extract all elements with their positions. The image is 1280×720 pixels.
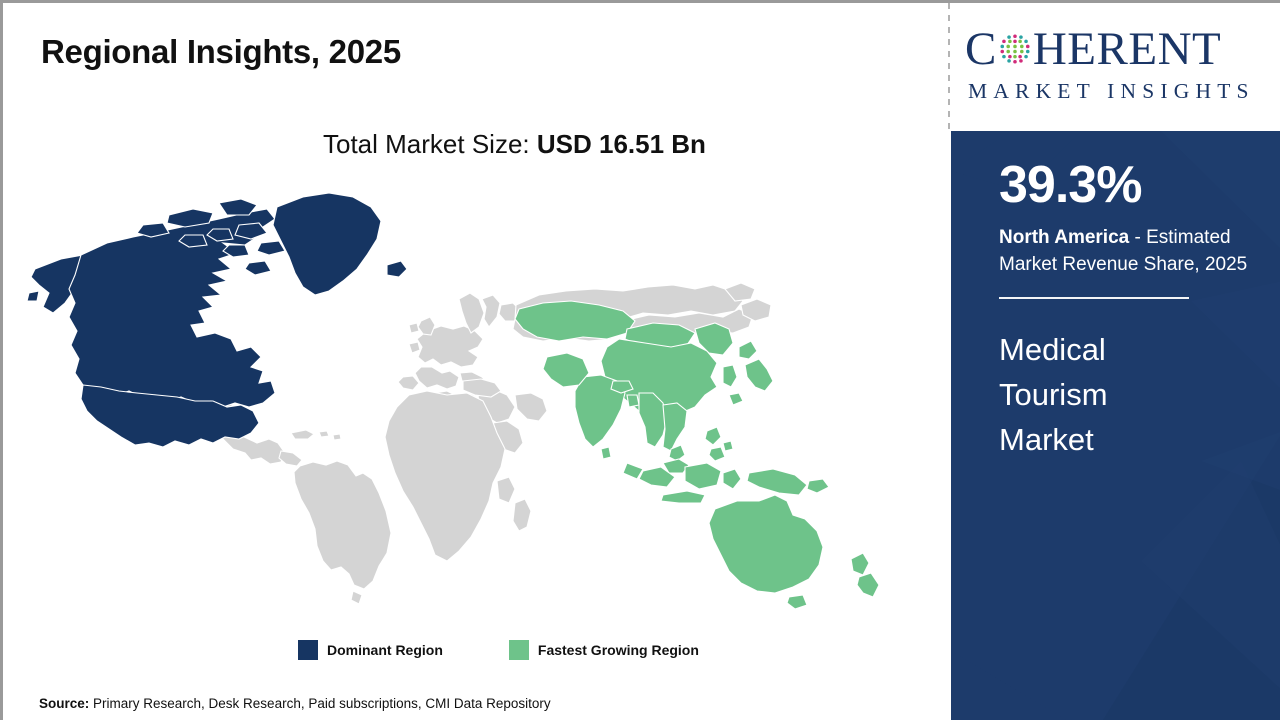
market-size-value: USD 16.51 Bn <box>537 129 706 159</box>
navy-square-icon <box>298 640 318 660</box>
map-legend: Dominant Region Fastest Growing Region <box>298 640 699 660</box>
page-title: Regional Insights, 2025 <box>41 33 401 71</box>
map-dominant-region-north-america <box>27 193 407 447</box>
legend-label-fastest-growing: Fastest Growing Region <box>538 642 699 658</box>
stat-region-name: North America <box>999 227 1129 248</box>
legend-item-dominant: Dominant Region <box>298 640 443 660</box>
world-map <box>23 181 903 621</box>
source-label: Source: <box>39 696 89 711</box>
logo-letter-c: C <box>965 26 997 73</box>
logo-tagline: MARKET INSIGHTS <box>965 79 1265 104</box>
company-logo: C <box>965 21 1265 115</box>
logo-word-coherent: HERENT <box>1033 26 1221 73</box>
stat-panel: 39.3% North America - Estimated Market R… <box>951 131 1280 720</box>
panel-divider-rule <box>999 297 1189 299</box>
world-map-svg <box>23 181 903 621</box>
source-note: Source: Primary Research, Desk Research,… <box>39 696 551 711</box>
left-content-pane: Regional Insights, 2025 Total Market Siz… <box>3 3 951 720</box>
vertical-dashed-divider <box>948 3 950 131</box>
stat-caption: North America - Estimated Market Revenue… <box>999 225 1267 279</box>
map-fastest-growing-region-asia-pacific <box>515 301 879 609</box>
stat-percent-value: 39.3% <box>999 159 1269 211</box>
source-text: Primary Research, Desk Research, Paid su… <box>89 696 550 711</box>
legend-label-dominant: Dominant Region <box>327 642 443 658</box>
green-square-icon <box>509 640 529 660</box>
market-size-label: Total Market Size: <box>323 129 530 159</box>
stat-panel-content: 39.3% North America - Estimated Market R… <box>951 131 1280 463</box>
total-market-size: Total Market Size: USD 16.51 Bn <box>323 129 706 160</box>
logo-wordmark: C <box>965 21 1265 77</box>
legend-item-fastest-growing: Fastest Growing Region <box>509 640 699 660</box>
market-name: Medical Tourism Market <box>999 327 1179 463</box>
dotted-globe-icon <box>998 32 1032 66</box>
infographic-page: Regional Insights, 2025 Total Market Siz… <box>0 0 1280 720</box>
